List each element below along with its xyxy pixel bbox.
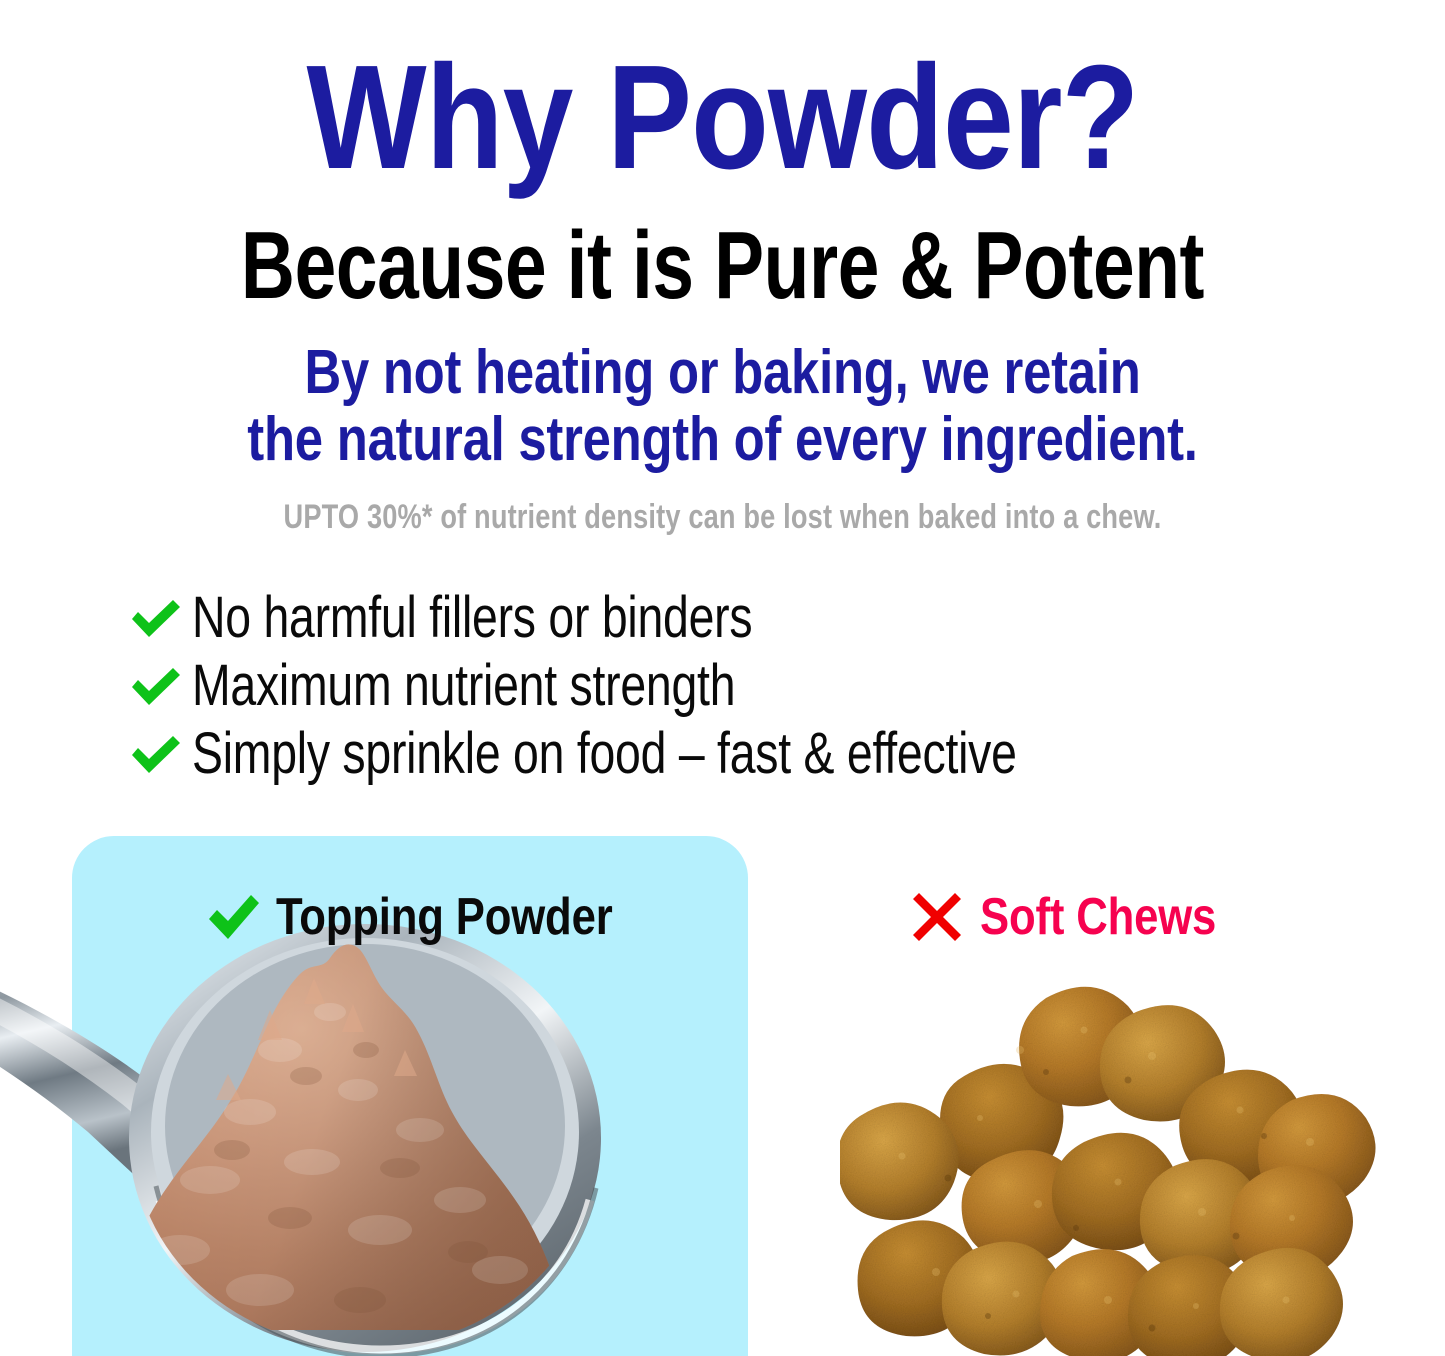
page-title: Why Powder? [101,48,1344,189]
check-icon [128,663,184,709]
check-icon [204,888,262,946]
cross-icon [908,888,966,946]
list-item-label: No harmful fillers or binders [192,589,752,647]
topping-powder-label: Topping Powder [276,891,613,943]
subtitle: Because it is Pure & Potent [159,218,1286,314]
soft-chews-label-group: Soft Chews [908,888,1261,946]
list-item: Simply sprinkle on food – fast & effecti… [128,720,1328,788]
disclaimer-text: UPTO 30%* of nutrient density can be los… [145,499,1301,536]
topping-powder-label-group: Topping Powder [204,888,677,946]
infographic-page: Why Powder? Because it is Pure & Potent … [0,0,1445,1356]
list-item-label: Maximum nutrient strength [192,657,735,715]
check-icon [128,731,184,777]
soft-chews-image [840,960,1440,1356]
tagline-line-2: the natural strength of every ingredient… [130,407,1315,474]
list-item: No harmful fillers or binders [128,584,1328,652]
tagline: By not heating or baking, we retain the … [130,340,1315,474]
benefit-list: No harmful fillers or binders Maximum nu… [128,584,1328,788]
tagline-line-1: By not heating or baking, we retain [130,340,1315,407]
list-item: Maximum nutrient strength [128,652,1328,720]
soft-chews-label: Soft Chews [980,891,1216,943]
list-item-label: Simply sprinkle on food – fast & effecti… [192,725,1017,783]
check-icon [128,595,184,641]
